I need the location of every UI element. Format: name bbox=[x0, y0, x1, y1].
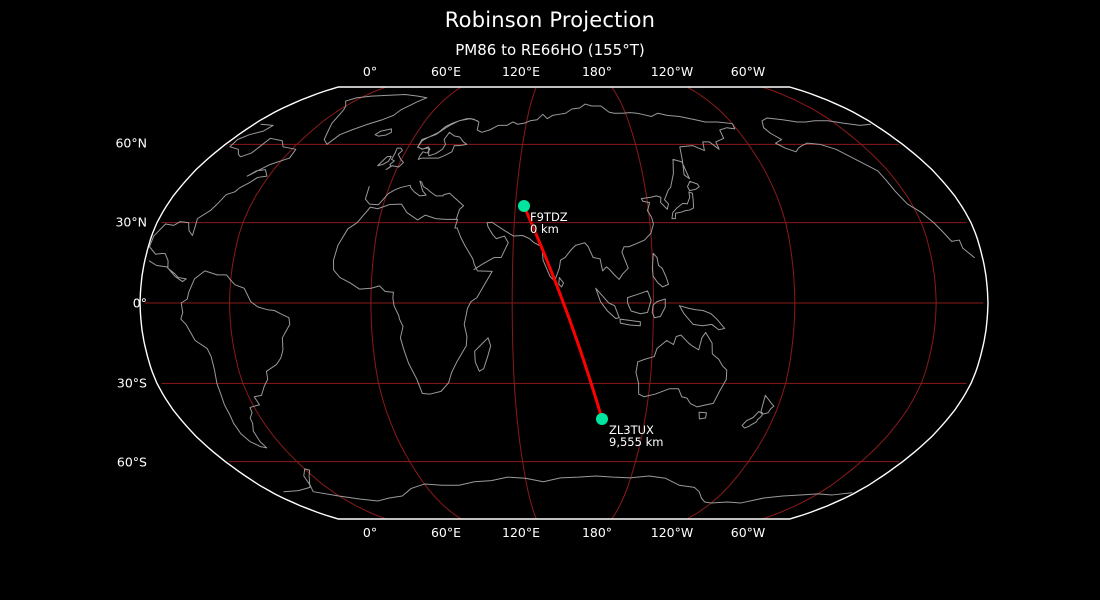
longitude-tick-top-5: 60°W bbox=[731, 64, 766, 79]
longitude-tick-bottom-5: 60°W bbox=[731, 525, 766, 540]
longitude-tick-top-1: 60°E bbox=[431, 64, 461, 79]
robinson-map-canvas bbox=[0, 0, 1100, 600]
longitude-tick-top-3: 180° bbox=[582, 64, 612, 79]
longitude-tick-bottom-4: 120°W bbox=[651, 525, 693, 540]
longitude-tick-bottom-1: 60°E bbox=[431, 525, 461, 540]
longitude-tick-bottom-0: 0° bbox=[363, 525, 377, 540]
station-distance-label: 0 km bbox=[530, 222, 559, 236]
map-figure: Robinson Projection PM86 to RE66HO (155°… bbox=[0, 0, 1100, 600]
station-marker[interactable] bbox=[518, 200, 530, 212]
longitude-tick-top-0: 0° bbox=[363, 64, 377, 79]
longitude-tick-top-2: 120°E bbox=[502, 64, 540, 79]
longitude-tick-bottom-2: 120°E bbox=[502, 525, 540, 540]
latitude-tick-1: 30°N bbox=[115, 215, 147, 230]
longitude-tick-top-4: 120°W bbox=[651, 64, 693, 79]
latitude-tick-4: 60°S bbox=[117, 455, 147, 470]
station-marker[interactable] bbox=[596, 413, 608, 425]
latitude-tick-2: 0° bbox=[133, 296, 147, 311]
latitude-tick-3: 30°S bbox=[117, 376, 147, 391]
longitude-tick-bottom-3: 180° bbox=[582, 525, 612, 540]
station-distance-label: 9,555 km bbox=[609, 435, 663, 449]
latitude-tick-0: 60°N bbox=[115, 136, 147, 151]
